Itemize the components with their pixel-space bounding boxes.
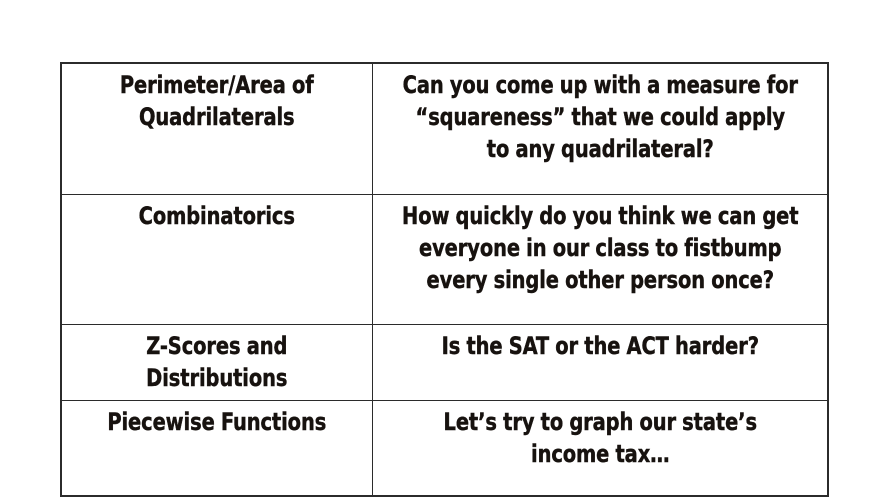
topic-cell: Perimeter/Area of Quadrilaterals: [61, 63, 372, 195]
topic-cell: Piecewise Functions: [61, 401, 372, 497]
table-row: Piecewise Functions Let’s try to graph o…: [61, 401, 828, 497]
prompt-cell: Is the SAT or the ACT harder?: [372, 325, 828, 401]
prompt-cell: Let’s try to graph our state’s income ta…: [372, 401, 828, 497]
table-row: Combinatorics How quickly do you think w…: [61, 195, 828, 325]
topic-label: Piecewise Functions: [84, 406, 350, 438]
topic-label: Perimeter/Area of Quadrilaterals: [84, 69, 350, 133]
prompt-label: Is the SAT or the ACT harder?: [402, 330, 798, 362]
topics-table: Perimeter/Area of Quadrilaterals Can you…: [60, 62, 829, 497]
table-row: Z-Scores and Distributions Is the SAT or…: [61, 325, 828, 401]
prompt-cell: How quickly do you think we can get ever…: [372, 195, 828, 325]
topic-cell: Combinatorics: [61, 195, 372, 325]
topic-label: Combinatorics: [84, 200, 350, 232]
page-canvas: Perimeter/Area of Quadrilaterals Can you…: [0, 0, 886, 496]
topic-cell: Z-Scores and Distributions: [61, 325, 372, 401]
topic-label: Z-Scores and Distributions: [84, 330, 350, 394]
table-body: Perimeter/Area of Quadrilaterals Can you…: [61, 63, 828, 496]
prompt-label: Can you come up with a measure for “squa…: [402, 69, 798, 165]
prompt-cell: Can you come up with a measure for “squa…: [372, 63, 828, 195]
table-row: Perimeter/Area of Quadrilaterals Can you…: [61, 63, 828, 195]
prompt-label: Let’s try to graph our state’s income ta…: [402, 406, 798, 470]
prompt-label: How quickly do you think we can get ever…: [402, 200, 798, 296]
